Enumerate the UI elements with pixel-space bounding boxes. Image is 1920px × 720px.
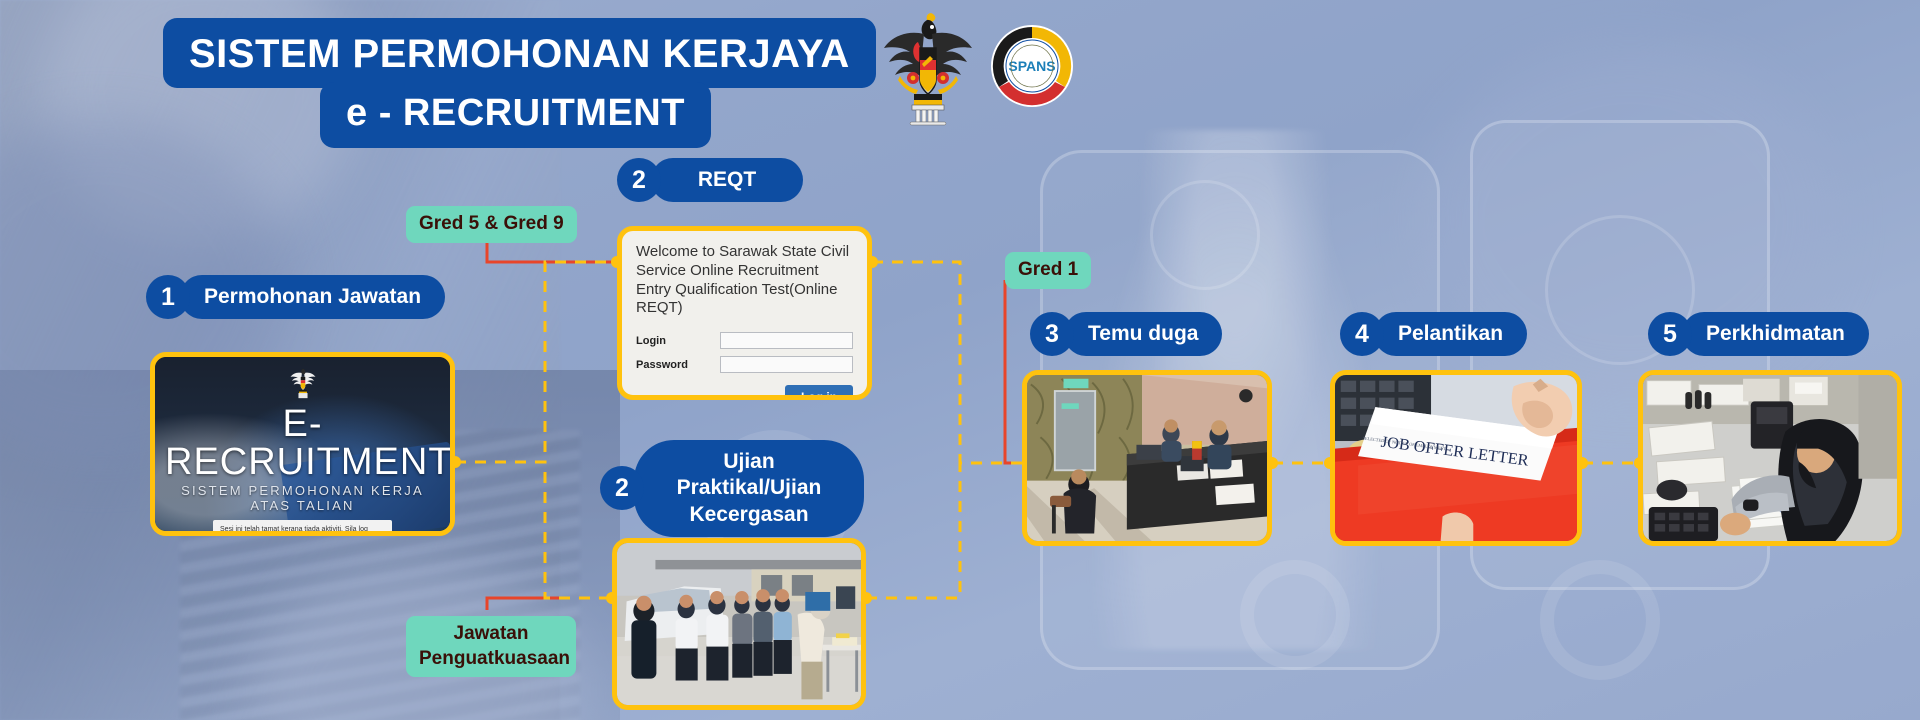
reqt-login-row[interactable]: Login (636, 332, 853, 349)
photo-card-job-offer-letter[interactable]: JOB OFFER LETTER SELECTED OF NOTICE OF E… (1330, 370, 1582, 546)
step-2-ujian-label[interactable]: Ujian Praktikal/Ujian Kecergasan (634, 440, 864, 537)
step-4-label[interactable]: Pelantikan (1374, 312, 1527, 356)
reqt-login-card[interactable]: Welcome to Sarawak State Civil Service O… (617, 226, 872, 400)
step-5-label[interactable]: Perkhidmatan (1682, 312, 1869, 356)
step-3-temu-duga[interactable]: 3 Temu duga (1030, 312, 1222, 356)
step-1-number: 1 (146, 275, 190, 319)
practical-test-illustration (617, 543, 861, 705)
step-5-number: 5 (1648, 312, 1692, 356)
step-4-pelantikan[interactable]: 4 Pelantikan (1340, 312, 1527, 356)
reqt-login-label: Login (636, 335, 720, 347)
tag-jawatan-penguatkuasaan: Jawatan Penguatkuasaan (406, 616, 576, 677)
step-5-perkhidmatan[interactable]: 5 Perkhidmatan (1648, 312, 1869, 356)
reqt-login-button[interactable]: Log in (785, 385, 853, 400)
reqt-heading: Welcome to Sarawak State Civil Service O… (636, 243, 853, 318)
job-offer-letter-photo: JOB OFFER LETTER SELECTED OF NOTICE OF E… (1335, 375, 1577, 541)
step-2-reqt[interactable]: 2 REQT (617, 158, 803, 202)
tag-gred-1: Gred 1 (1005, 252, 1091, 289)
photo-card-practical-test[interactable] (612, 538, 866, 710)
page-title: SISTEM PERMOHONAN KERJAYA e - RECRUITMEN… (0, 18, 900, 148)
background-gear (1240, 560, 1350, 670)
step-2-reqt-number: 2 (617, 158, 661, 202)
step-2-ujian-praktikal[interactable]: 2 Ujian Praktikal/Ujian Kecergasan (600, 440, 864, 537)
photo-card-service[interactable] (1638, 370, 1902, 546)
sarawak-coat-of-arms-icon (880, 6, 976, 126)
step-1-permohonan-jawatan[interactable]: 1 Permohonan Jawatan (146, 275, 445, 319)
service-illustration (1643, 375, 1897, 541)
practical-test-photo (617, 543, 861, 705)
tag-gred-5-and-9: Gred 5 & Gred 9 (406, 206, 577, 243)
erecruitment-title: E-RECRUITMENT (165, 405, 440, 481)
interview-illustration (1027, 375, 1267, 541)
job-offer-letter-illustration: JOB OFFER LETTER SELECTED OF NOTICE OF E… (1335, 375, 1577, 541)
step-1-label[interactable]: Permohonan Jawatan (180, 275, 445, 319)
logo-group: SPANS (880, 6, 1074, 126)
title-line-1: SISTEM PERMOHONAN KERJAYA (163, 18, 876, 88)
erecruitment-crest-icon (286, 365, 320, 399)
background-circle (1150, 180, 1260, 290)
reqt-login-input[interactable] (720, 332, 853, 349)
reqt-password-label: Password (636, 359, 720, 371)
reqt-password-row[interactable]: Password (636, 356, 853, 373)
erecruitment-session-notice: Sesi ini telah tamat kerana tiada aktivi… (213, 520, 392, 536)
step-4-number: 4 (1340, 312, 1384, 356)
erecruitment-login-card[interactable]: E-RECRUITMENT SISTEM PERMOHONAN KERJA AT… (150, 352, 455, 536)
reqt-password-input[interactable] (720, 356, 853, 373)
step-3-number: 3 (1030, 312, 1074, 356)
step-2-reqt-label[interactable]: REQT (651, 158, 803, 202)
background-gear (1540, 560, 1660, 680)
service-photo (1643, 375, 1897, 541)
step-3-label[interactable]: Temu duga (1064, 312, 1222, 356)
title-line-2: e - RECRUITMENT (320, 82, 711, 148)
spans-logo-text: SPANS (1008, 58, 1055, 74)
spans-logo-icon: SPANS (990, 24, 1074, 108)
interview-photo (1027, 375, 1267, 541)
photo-card-interview[interactable] (1022, 370, 1272, 546)
erecruitment-subtitle: SISTEM PERMOHONAN KERJA ATAS TALIAN (165, 483, 440, 513)
